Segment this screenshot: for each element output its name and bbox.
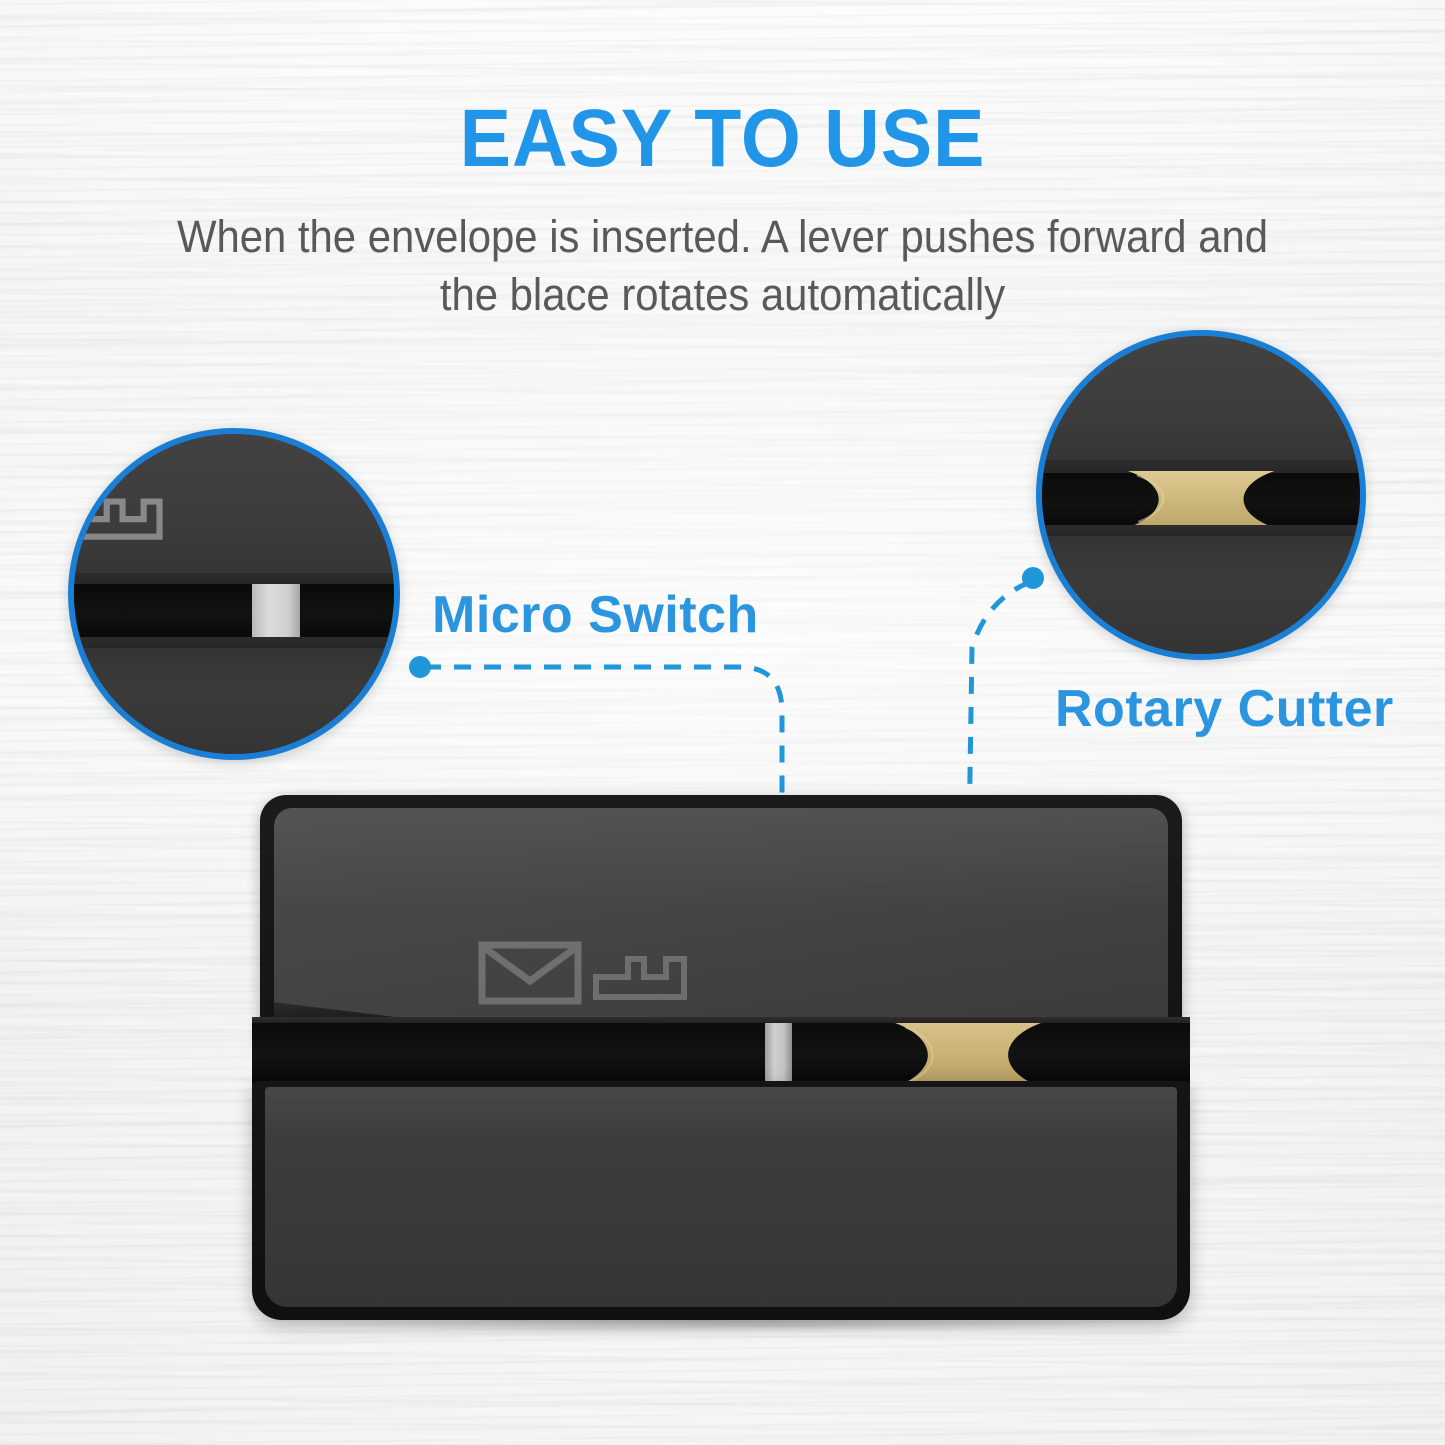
page-subtitle: When the envelope is inserted. A lever p… xyxy=(153,208,1292,323)
rotary-cutter-magnifier xyxy=(1036,330,1366,660)
insertion-slot xyxy=(252,1023,1190,1085)
micro-switch-magnifier-content xyxy=(74,434,394,754)
envelope-icon xyxy=(482,945,578,1001)
catch-tray xyxy=(252,1081,1190,1320)
subtitle-line-1: When the envelope is inserted. A lever p… xyxy=(153,208,1292,266)
rotary-cutter-blade xyxy=(895,1023,1041,1087)
callout-label-rotary-cutter: Rotary Cutter xyxy=(1055,679,1394,739)
device-lid-sheen xyxy=(274,808,1168,910)
page-title: EASY TO USE xyxy=(43,92,1401,186)
magnified-device-lower-surface xyxy=(68,648,400,754)
magnified-insertion-slot xyxy=(68,584,400,638)
envelope-opener-device xyxy=(252,795,1190,1320)
magnified-device-lower-surface-2 xyxy=(1036,536,1366,654)
device-lid xyxy=(260,795,1182,1050)
infographic-canvas: EASY TO USE When the envelope is inserte… xyxy=(0,0,1445,1445)
callout-label-micro-switch: Micro Switch xyxy=(432,585,759,645)
micro-switch-magnifier xyxy=(68,428,400,760)
arrow-icon xyxy=(68,488,173,552)
catch-tray-face xyxy=(265,1087,1177,1307)
magnified-micro-switch-tab xyxy=(252,584,300,640)
catch-tray-sheen xyxy=(265,1087,1177,1144)
device-face-icons xyxy=(478,935,690,1007)
arrow-icon xyxy=(596,959,684,997)
subtitle-line-2: the blace rotates automatically xyxy=(153,266,1292,324)
micro-switch-tab xyxy=(765,1023,792,1087)
device-lid-face xyxy=(274,808,1168,1050)
rotary-cutter-magnifier-content xyxy=(1042,336,1360,654)
magnified-rotary-cutter-blade xyxy=(1128,471,1274,528)
magnified-device-surface-2 xyxy=(1036,336,1366,463)
